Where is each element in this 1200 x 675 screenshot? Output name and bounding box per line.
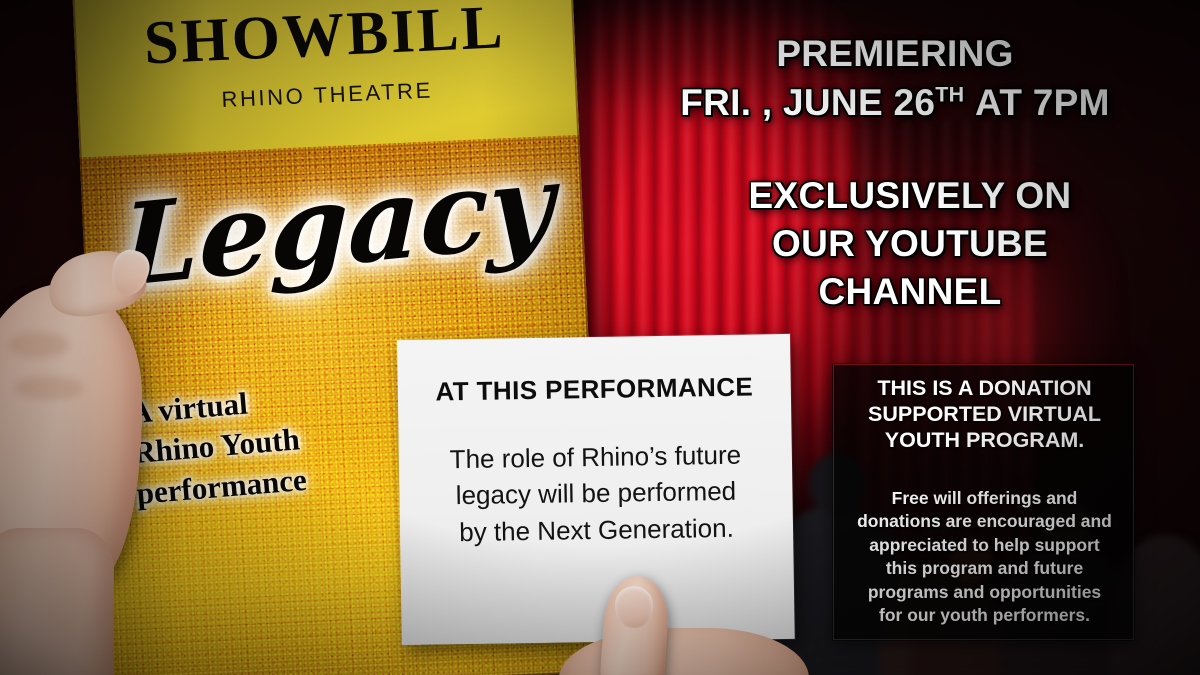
donation-heading: THIS IS A DONATION SUPPORTED VIRTUAL YOU… (840, 375, 1129, 454)
promo-graphic: SHOWBILL RHINO THEATRE Legacy A virtual … (0, 0, 1200, 675)
hand-lower-knuckles (559, 628, 809, 675)
platform-line-1: EXCLUSIVELY ON (700, 172, 1120, 220)
card-heading: AT THIS PERFORMANCE (398, 371, 791, 408)
donation-body-line-3: appreciated to help support (838, 534, 1131, 557)
donation-body: Free will offerings and donations are en… (838, 487, 1131, 628)
platform-headline: EXCLUSIVELY ON OUR YOUTUBE CHANNEL (700, 172, 1120, 316)
donation-body-line-6: for our youth performers. (838, 604, 1131, 627)
hand-holding-poster (0, 236, 184, 675)
donation-body-line-2: donations are encouraged and (838, 510, 1131, 533)
donation-body-line-4: this program and future (838, 557, 1131, 580)
donation-heading-line-2: SUPPORTED VIRTUAL (840, 401, 1129, 427)
donation-heading-line-1: THIS IS A DONATION (840, 375, 1129, 401)
thumbnail (615, 586, 653, 628)
showtime-ordinal: TH (935, 83, 964, 107)
showtime-time: AT 7PM (964, 82, 1109, 123)
showtime-headline: FRI. , JUNE 26TH AT 7PM (600, 84, 1190, 121)
showtime-date: FRI. , JUNE 26 (680, 82, 935, 123)
donation-heading-line-3: YOUTH PROGRAM. (840, 427, 1129, 453)
card-body: The role of Rhino’s future legacy will b… (417, 436, 776, 551)
donation-notice: THIS IS A DONATION SUPPORTED VIRTUAL YOU… (833, 364, 1134, 640)
wrist (0, 528, 114, 675)
platform-line-3: CHANNEL (700, 268, 1120, 316)
card-body-line-1: The role of Rhino’s future (417, 436, 775, 478)
premiering-headline: PREMIERING (600, 35, 1190, 72)
donation-body-line-1: Free will offerings and (838, 487, 1131, 510)
hand-holding-card (575, 556, 815, 675)
donation-body-line-5: programs and opportunities (838, 581, 1131, 604)
card-body-line-3: by the Next Generation. (418, 509, 776, 551)
platform-line-2: OUR YOUTUBE (700, 220, 1120, 268)
card-body-line-2: legacy will be performed (417, 473, 775, 515)
